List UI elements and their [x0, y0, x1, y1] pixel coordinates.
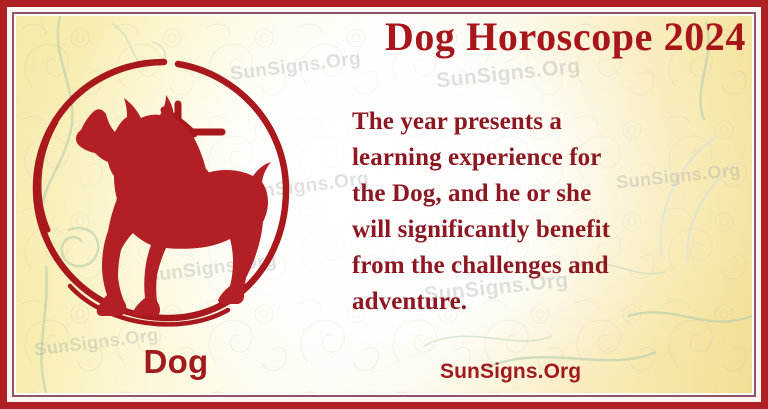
- paragraph-line: will significantly benefit: [352, 212, 742, 248]
- paragraph-line: adventure.: [352, 284, 742, 320]
- horoscope-paragraph: The year presents a learning experience …: [352, 104, 742, 320]
- watermark: SunSigns.Org: [435, 54, 582, 93]
- zodiac-emblem: [14, 48, 306, 340]
- sign-label: Dog: [96, 345, 256, 378]
- page-title: Dog Horoscope 2024: [246, 16, 746, 58]
- brand-logo: SunSigns.Org: [440, 360, 581, 384]
- dog-silhouette-icon: [76, 95, 271, 316]
- paragraph-line: the Dog, and he or she: [352, 176, 742, 212]
- paragraph-line: from the challenges and: [352, 248, 742, 284]
- paragraph-line: The year presents a: [352, 104, 742, 140]
- paragraph-line: learning experience for: [352, 140, 742, 176]
- horoscope-card: SunSigns.Org SunSigns.Org SunSigns.Org S…: [0, 0, 768, 409]
